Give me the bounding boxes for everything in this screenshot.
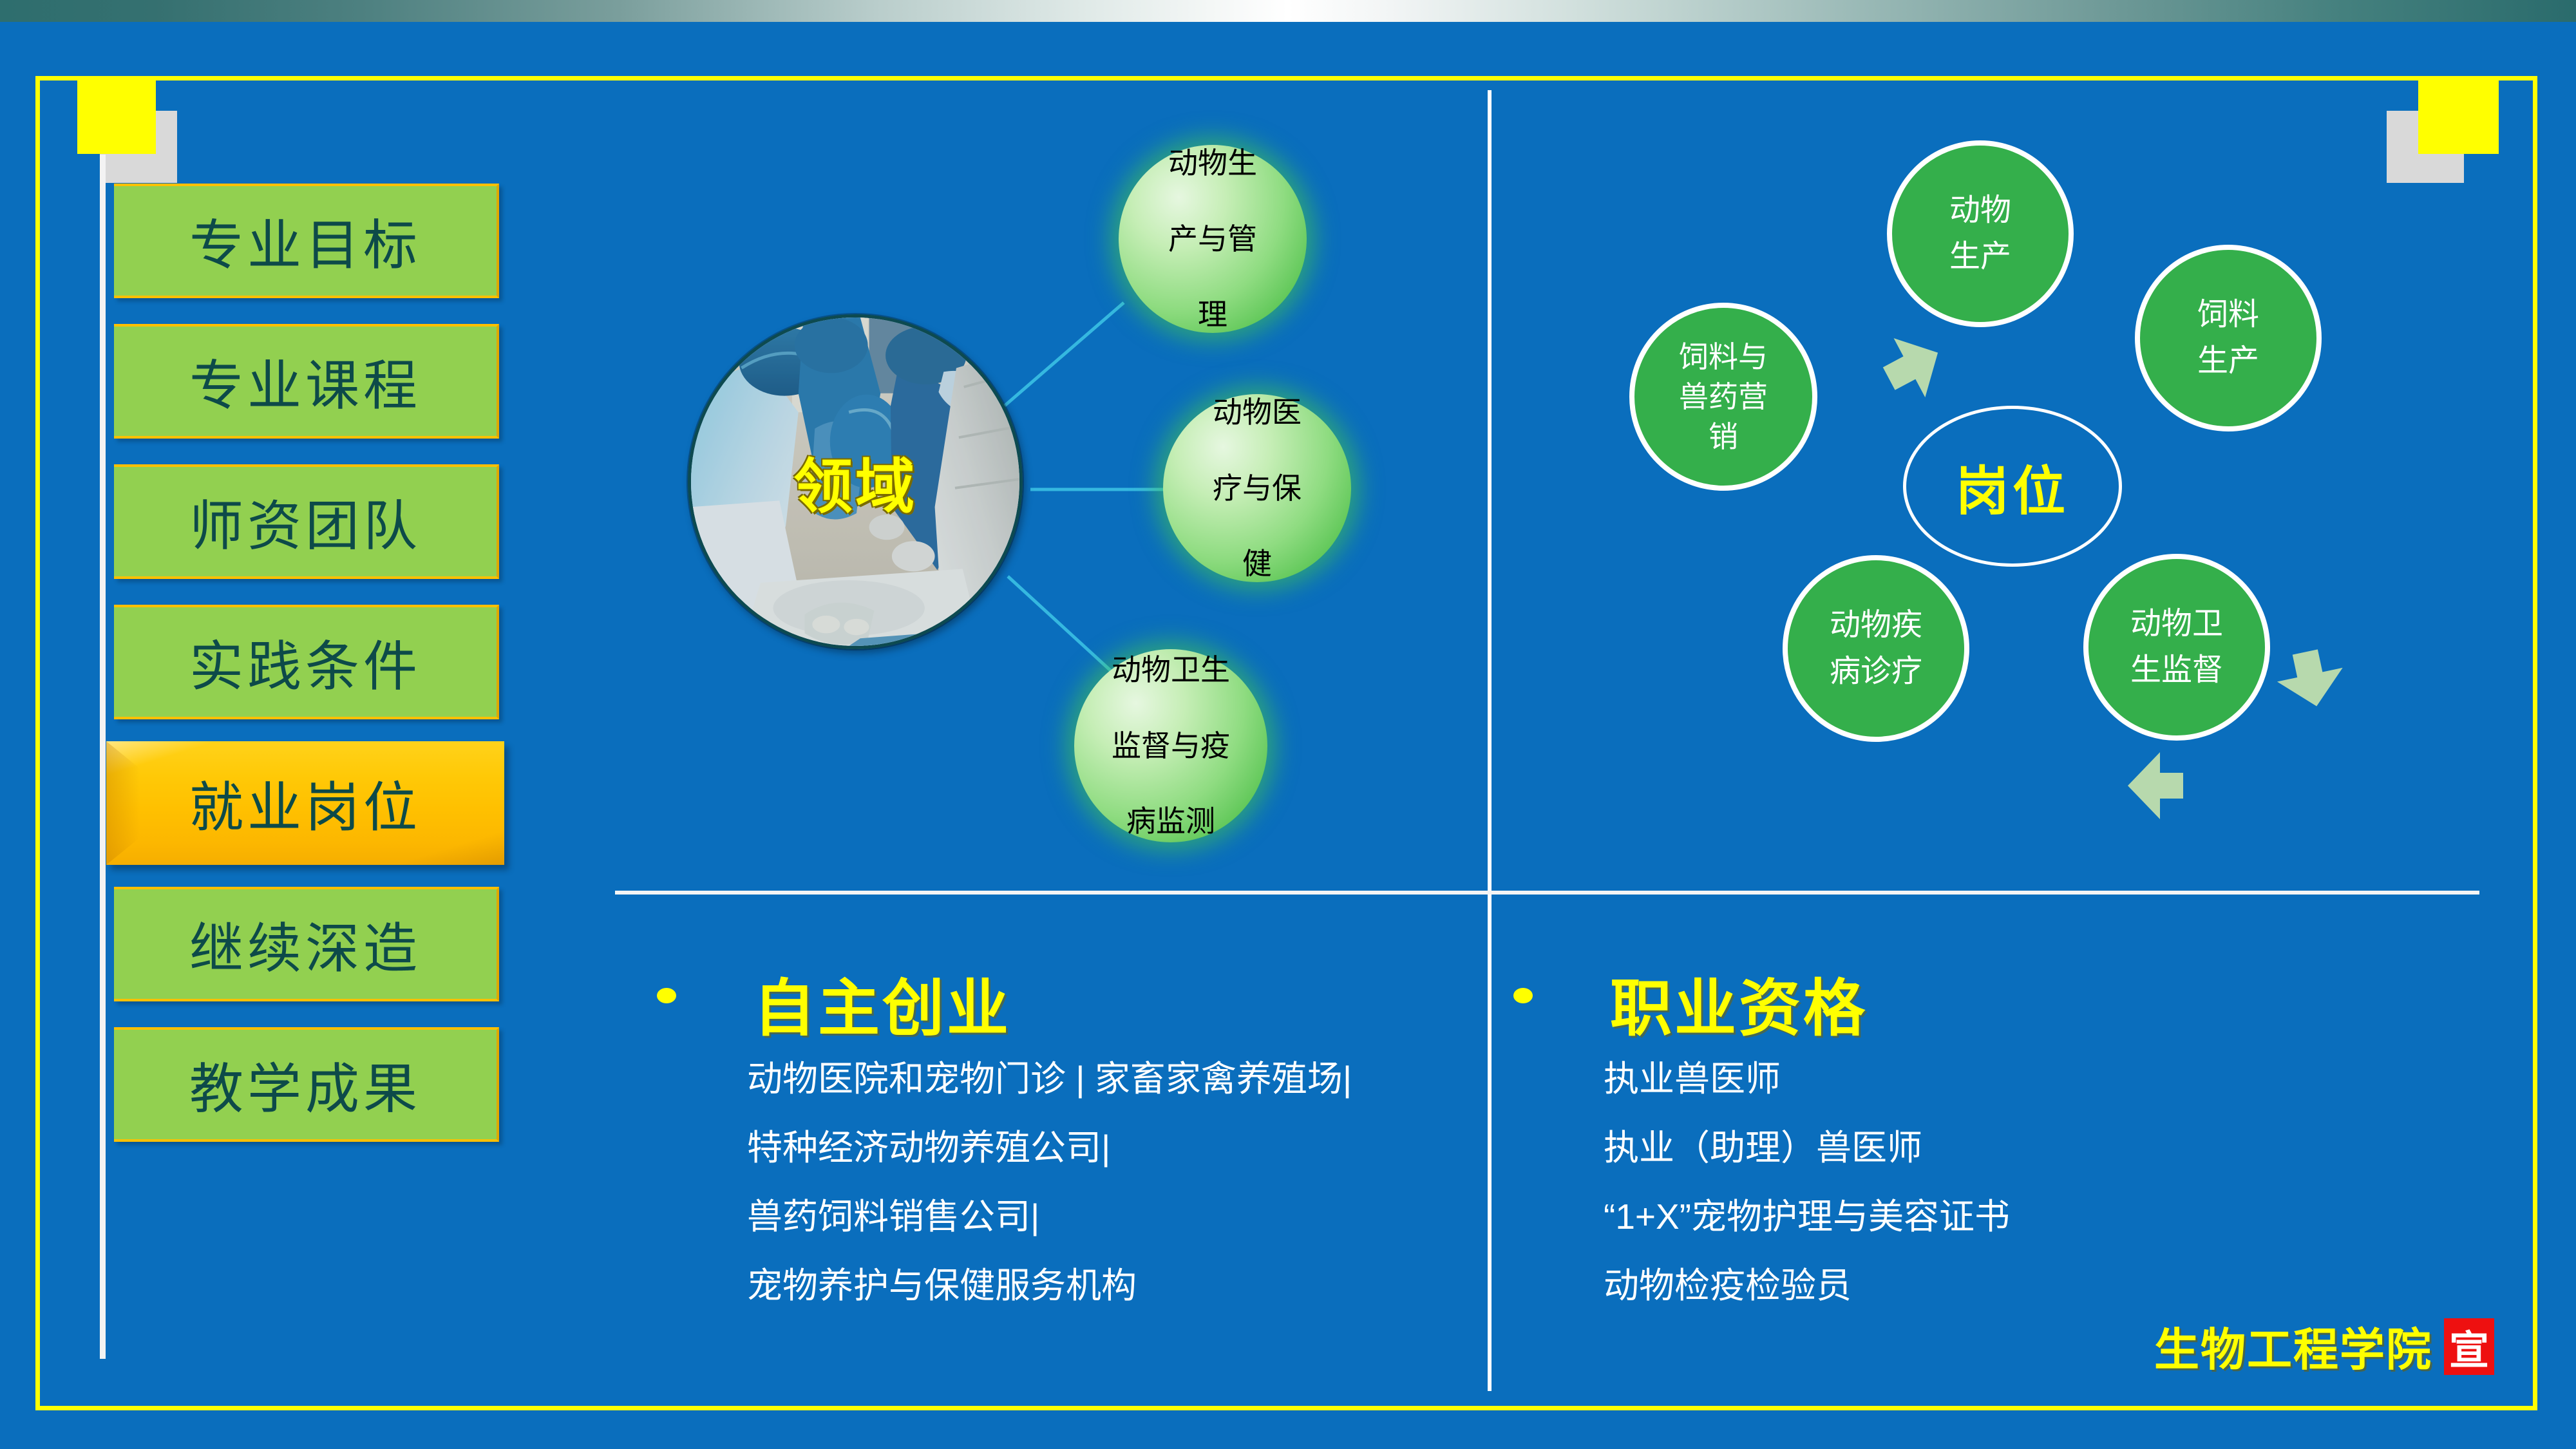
cycle-node-line: 生产 <box>1949 240 2011 274</box>
sidebar-item-jiaoxue-chengguo[interactable]: 教学成果 <box>114 1027 499 1142</box>
cycle-node-line: 动物卫 <box>2130 607 2223 641</box>
bubble-line: 健 <box>1204 545 1311 583</box>
entrepreneurship-heading: 自主创业 <box>753 958 1011 1048</box>
list-item: 兽药饲料销售公司| <box>747 1199 1352 1235</box>
cycle-node-line: 饲料 <box>2197 298 2259 332</box>
cycle-node-animal-health-supervision[interactable]: 动物卫 生监督 <box>2083 554 2270 741</box>
slide-canvas: 专业目标 专业课程 师资团队 实践条件 就业岗位 继续深造 教学成果 <box>0 0 2576 1449</box>
sidebar-item-jiuye-gangwei[interactable]: 就业岗位 <box>106 741 504 865</box>
sidebar-item-jixu-shenzao[interactable]: 继续深造 <box>114 887 499 1001</box>
cycle-node-line: 销 <box>1709 420 1738 453</box>
qualification-list: 执业兽医师 执业（助理）兽医师 “1+X”宠物护理与美容证书 动物检疫检验员 <box>1604 1061 2010 1337</box>
footer-branding: 生物工程学院 宣 <box>2154 1314 2494 1379</box>
footer-org-name: 生物工程学院 <box>2154 1314 2432 1379</box>
sidebar-item-shijian-tiaojian[interactable]: 实践条件 <box>114 605 499 719</box>
bullet-dot-icon <box>1513 988 1533 1003</box>
cycle-hub-label: 岗位 <box>1956 448 2069 525</box>
sidebar-item-label: 教学成果 <box>189 1046 421 1124</box>
bubble-line: 产与管 <box>1159 220 1266 258</box>
list-item: 特种经济动物养殖公司| <box>747 1130 1352 1166</box>
entrepreneurship-list: 动物医院和宠物门诊 | 家畜家禽养殖场| 特种经济动物养殖公司| 兽药饲料销售公… <box>747 1061 1352 1337</box>
cycle-node-feed-production[interactable]: 饲料 生产 <box>2135 245 2322 431</box>
cycle-node-line: 动物 <box>1949 193 2011 227</box>
cycle-node-animal-production[interactable]: 动物 生产 <box>1887 140 2074 327</box>
bubble-line: 理 <box>1159 296 1266 334</box>
sidebar-item-shizi-tuandui[interactable]: 师资团队 <box>114 464 499 579</box>
field-bubble-animal-medicine[interactable]: 动物医 疗与保 健 <box>1163 394 1351 582</box>
cycle-node-line: 病诊疗 <box>1830 654 1922 688</box>
field-bubble-animal-production[interactable]: 动物生 产与管 理 <box>1119 145 1307 333</box>
bubble-line: 监督与疫 <box>1103 727 1239 765</box>
top-right-yellow-square <box>2418 77 2499 154</box>
bullet-dot-icon <box>657 988 676 1003</box>
horizontal-divider <box>615 891 2479 895</box>
sidebar-nav: 专业目标 专业课程 师资团队 实践条件 就业岗位 继续深造 教学成果 <box>100 184 499 1378</box>
cycle-hub-gangwei: 岗位 <box>1903 406 2122 567</box>
list-item: 动物检疫检验员 <box>1604 1268 2010 1303</box>
vertical-divider <box>1488 90 1492 1391</box>
bubble-line: 动物卫生 <box>1103 651 1239 689</box>
field-bubble-animal-health-supervision[interactable]: 动物卫生 监督与疫 病监测 <box>1074 649 1267 842</box>
bubble-line: 疗与保 <box>1204 469 1311 507</box>
cycle-node-line: 饲料与 <box>1679 340 1768 374</box>
sidebar-item-label: 专业目标 <box>189 202 421 280</box>
footer-seal-badge: 宣 <box>2444 1318 2494 1375</box>
sidebar-item-zhuanye-kecheng[interactable]: 专业课程 <box>114 324 499 439</box>
bubble-line: 动物医 <box>1204 393 1311 431</box>
sidebar-item-label: 专业课程 <box>189 343 421 421</box>
fields-center-label: 领域 <box>691 439 1019 525</box>
metallic-top-band <box>0 0 2576 22</box>
list-item: 执业兽医师 <box>1604 1061 2010 1097</box>
top-left-yellow-square <box>77 77 156 154</box>
list-item: 宠物养护与保健服务机构 <box>747 1268 1352 1303</box>
sidebar-item-label: 师资团队 <box>189 483 421 561</box>
qualification-heading: 职业资格 <box>1610 958 1868 1048</box>
list-item: 执业（助理）兽医师 <box>1604 1130 2010 1166</box>
sidebar-item-label: 继续深造 <box>189 905 421 983</box>
cycle-node-line: 生产 <box>2197 344 2259 378</box>
list-item: “1+X”宠物护理与美容证书 <box>1604 1199 2010 1235</box>
sidebar-item-label: 实践条件 <box>189 623 421 701</box>
bubble-line: 病监测 <box>1103 802 1239 840</box>
fields-center-photo: 领域 <box>688 314 1023 649</box>
cycle-node-feed-and-veterinary-drug-marketing[interactable]: 饲料与 兽药营 销 <box>1629 303 1817 491</box>
cycle-node-animal-disease-treatment[interactable]: 动物疾 病诊疗 <box>1783 555 1969 742</box>
cycle-node-line: 生监督 <box>2130 653 2223 687</box>
sidebar-rail <box>100 155 106 1359</box>
sidebar-item-zhuanye-mubiao[interactable]: 专业目标 <box>114 184 499 298</box>
sidebar-item-label: 就业岗位 <box>189 764 421 842</box>
list-item: 动物医院和宠物门诊 | 家畜家禽养殖场| <box>747 1061 1352 1097</box>
cycle-node-line: 动物疾 <box>1830 608 1922 642</box>
bubble-line: 动物生 <box>1159 144 1266 182</box>
cycle-node-line: 兽药营 <box>1679 380 1768 413</box>
